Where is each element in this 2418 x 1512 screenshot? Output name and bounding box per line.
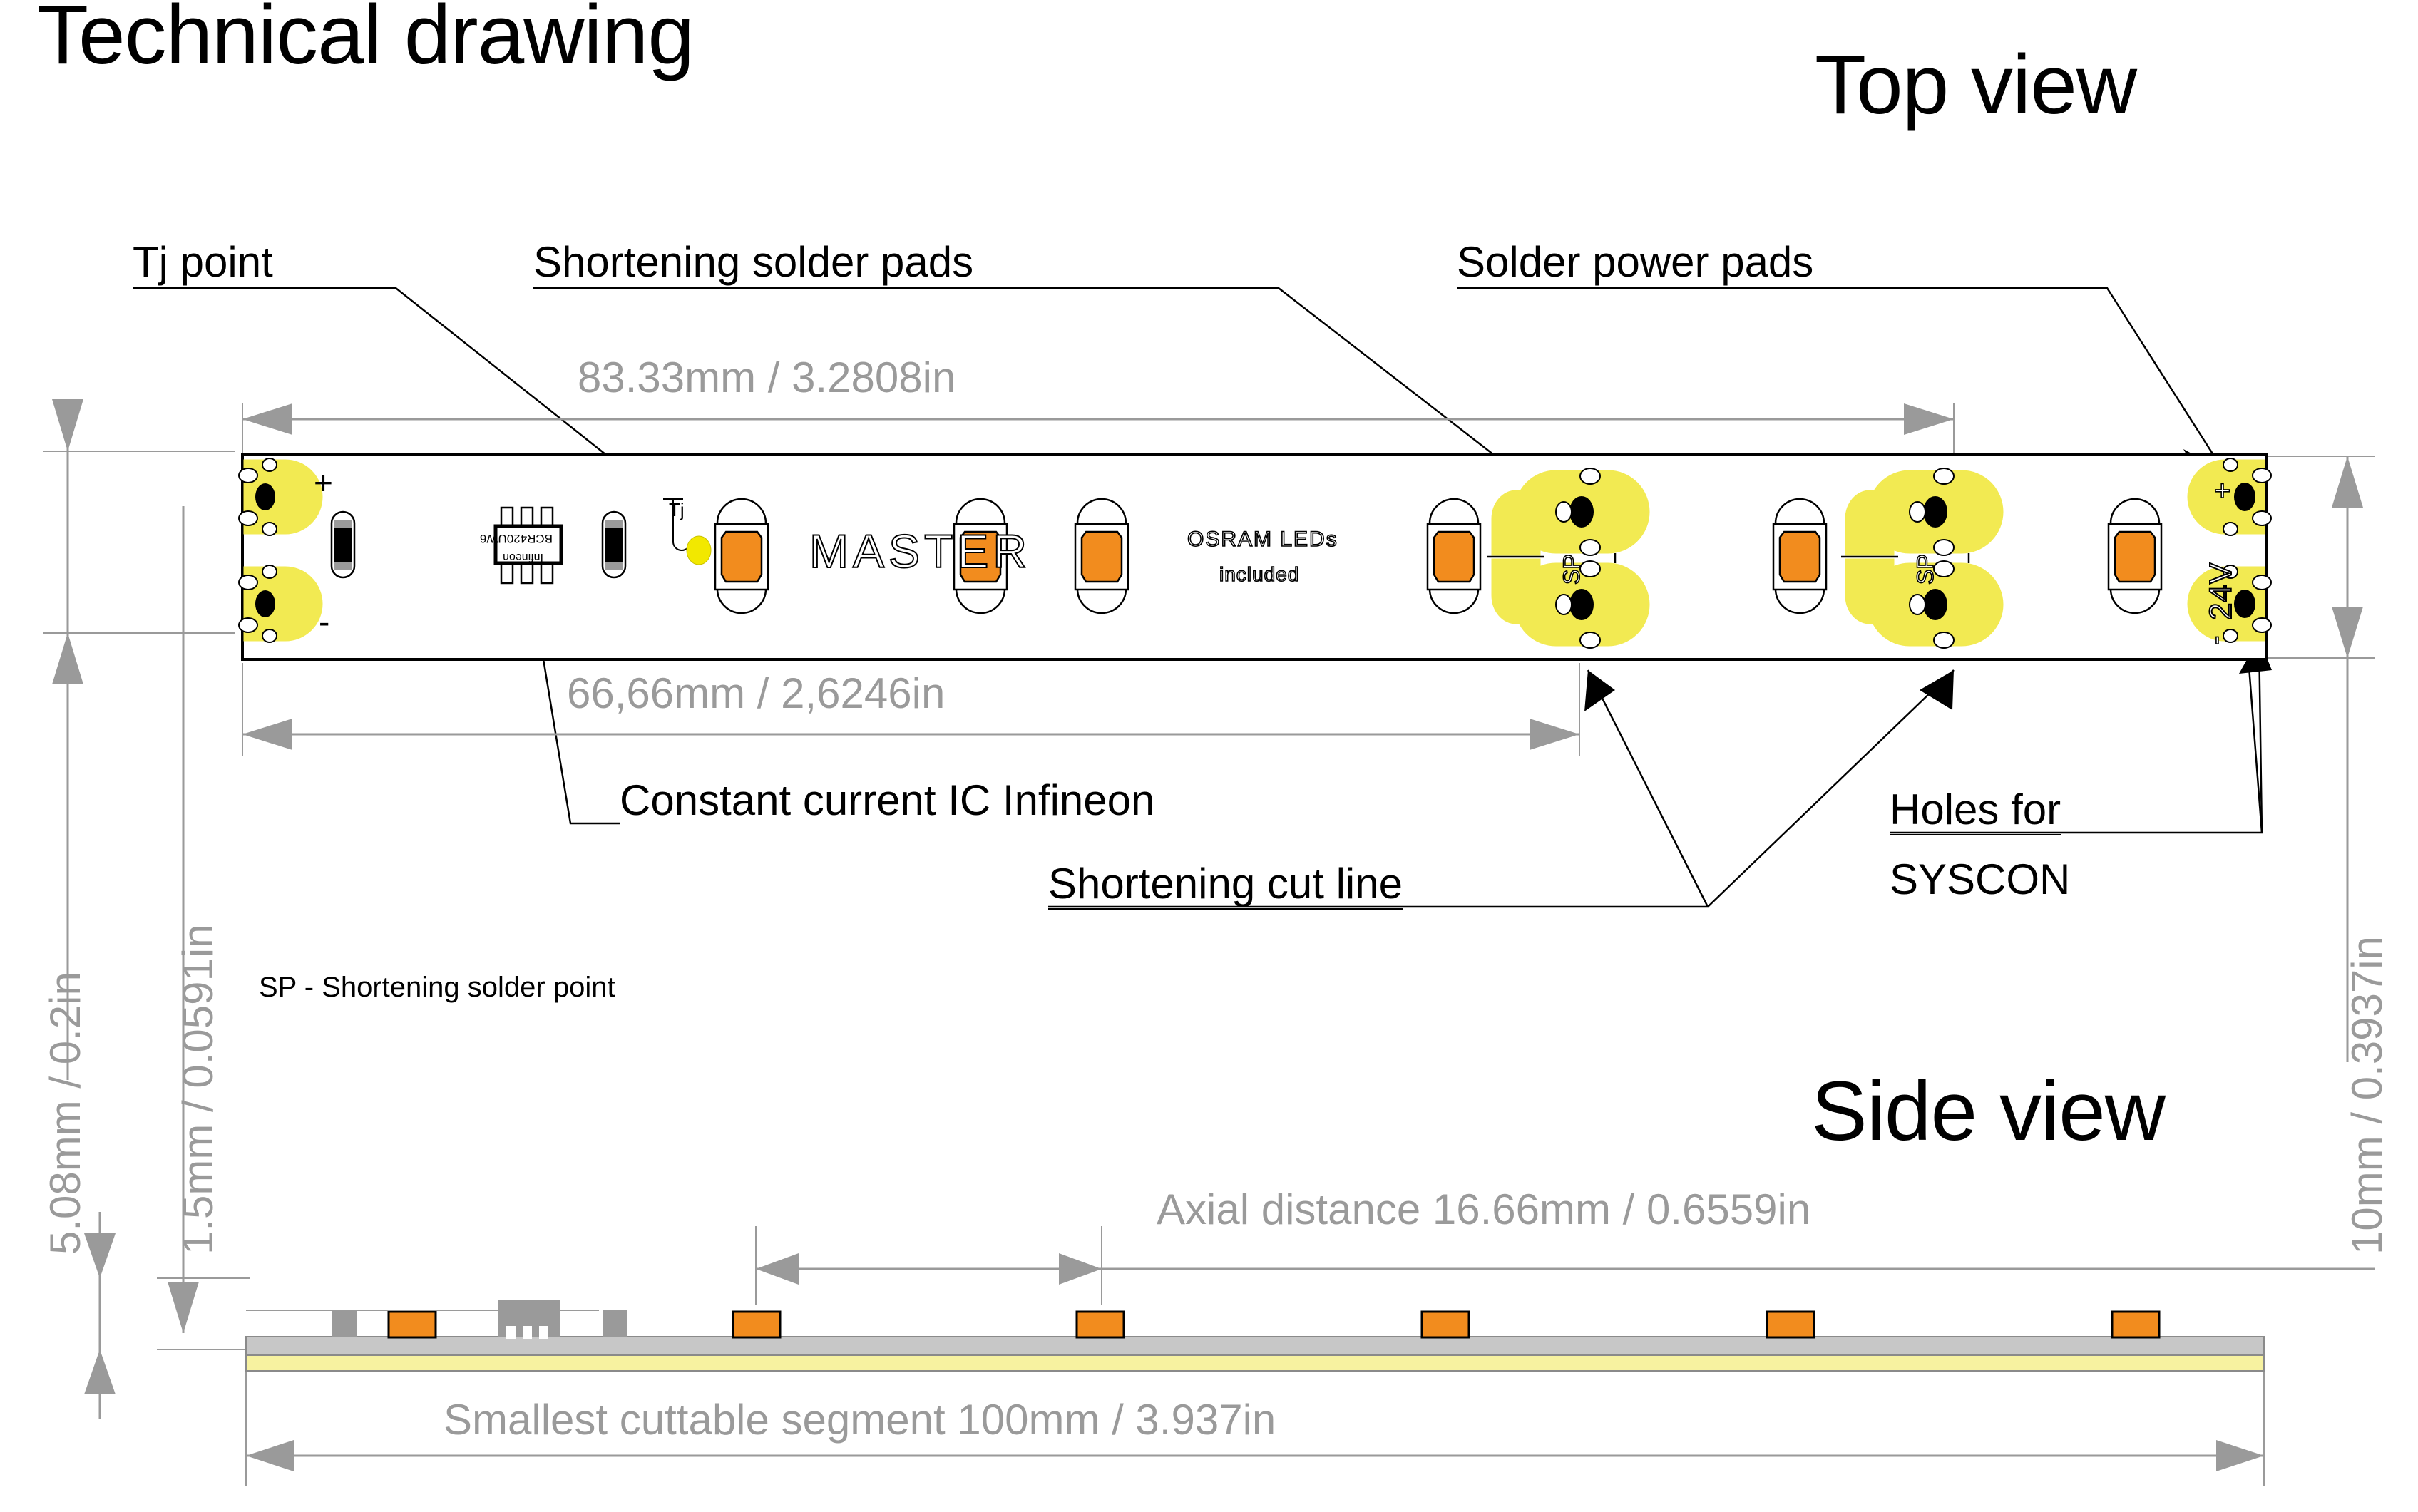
side-led-6 — [2112, 1312, 2159, 1337]
side-ic-pin-2 — [523, 1326, 532, 1339]
side-adhesive-layer — [246, 1355, 2264, 1371]
side-ic-pin-1 — [506, 1326, 516, 1339]
side-resistor-2 — [603, 1310, 627, 1337]
side-led-2 — [733, 1312, 780, 1337]
side-led-3 — [1077, 1312, 1124, 1337]
side-ic-pin-3 — [539, 1326, 548, 1339]
side-led-5 — [1767, 1312, 1814, 1337]
side-view-strip — [0, 0, 2418, 1512]
side-resistor-1 — [332, 1310, 357, 1337]
side-led-4 — [1422, 1312, 1469, 1337]
side-pcb-layer — [246, 1337, 2264, 1355]
side-led-1 — [389, 1312, 436, 1337]
